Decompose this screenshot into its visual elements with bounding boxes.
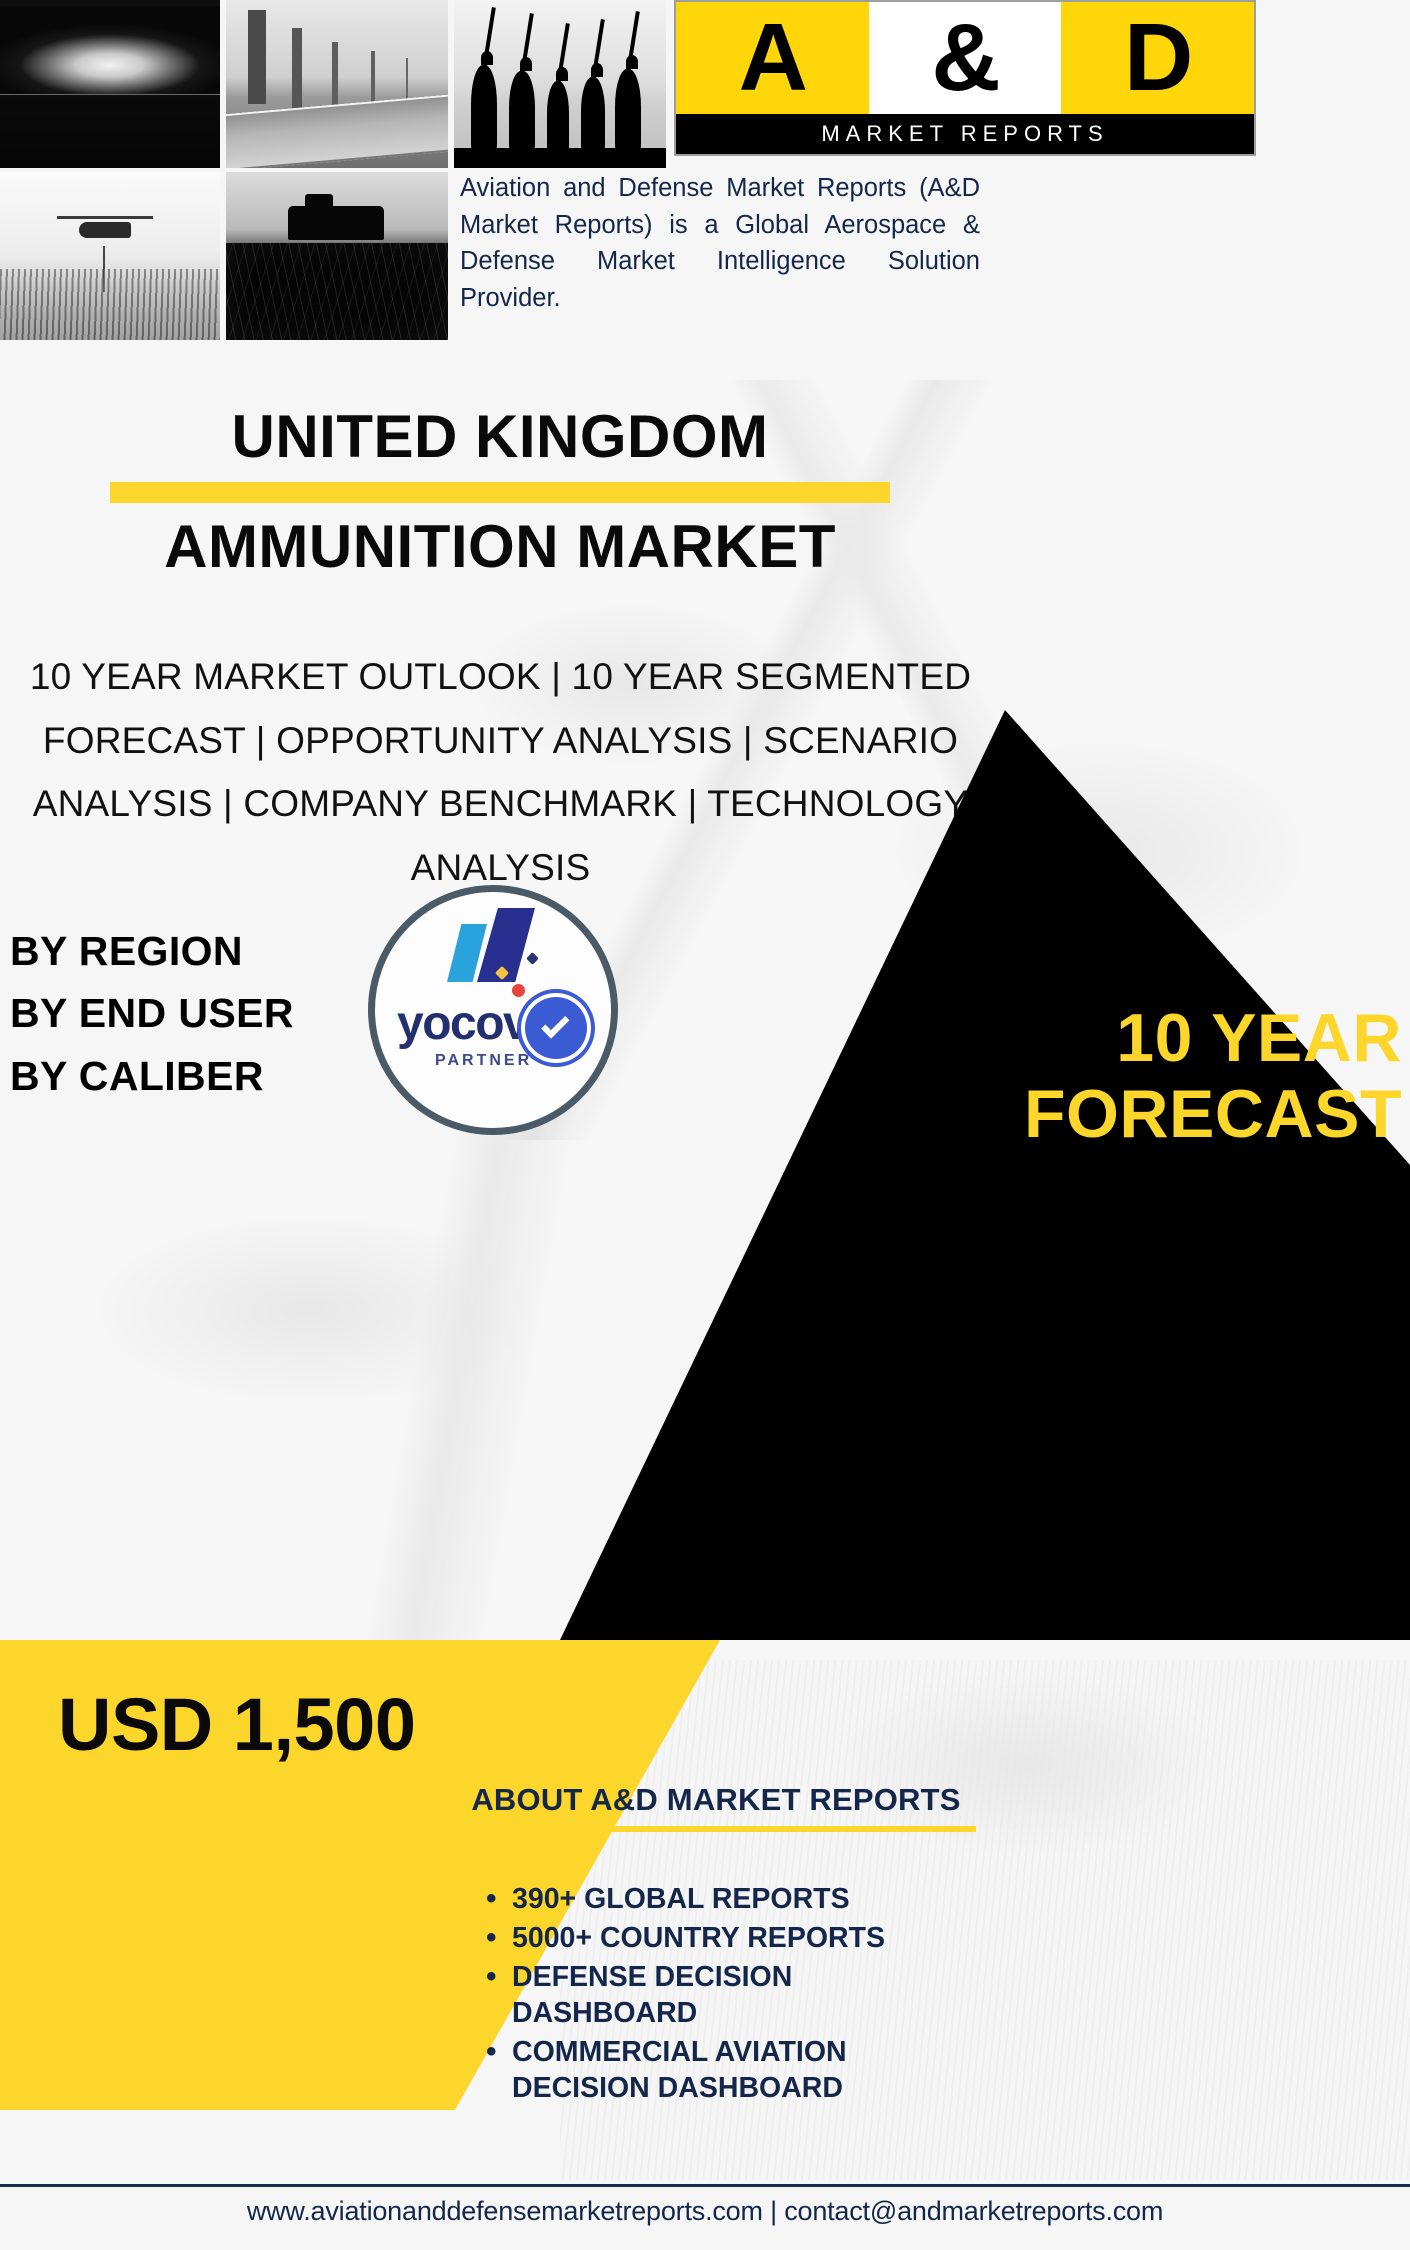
report-cover-poster: A & D MARKET REPORTS Aviation and Defens… [0, 0, 1410, 2250]
about-bullet-list: 390+ GLOBAL REPORTS 5000+ COUNTRY REPORT… [480, 1882, 950, 2109]
confetti-dot-red-icon [512, 984, 525, 997]
about-bullet-country-reports: 5000+ COUNTRY REPORTS [480, 1921, 950, 1957]
feature-list: 10 YEAR MARKET OUTLOOK | 10 YEAR SEGMENT… [18, 645, 983, 900]
ad-market-reports-logo: A & D MARKET REPORTS [676, 2, 1254, 154]
aircraft-carrier-photo [226, 0, 448, 168]
logo-letter-ampersand: & [931, 10, 998, 106]
about-bullet-global-reports: 390+ GLOBAL REPORTS [480, 1882, 950, 1918]
logo-tagline: MARKET REPORTS [821, 121, 1108, 147]
page-title-line2: AMMUNITION MARKET [0, 515, 1000, 579]
footer-contact: www.aviationanddefensemarketreports.com … [0, 2196, 1410, 2227]
soldiers-silhouette-photo [454, 0, 666, 168]
helicopter-photo [0, 172, 220, 340]
armored-vehicle-photo [226, 172, 448, 340]
price-value: USD 1,500 [58, 1682, 618, 1767]
logo-block-d: D [1061, 2, 1254, 114]
yocova-chevron-icon [447, 908, 539, 982]
about-heading: ABOUT A&D MARKET REPORTS [456, 1782, 976, 1818]
about-divider [460, 1826, 976, 1832]
page-title-line1: UNITED KINGDOM [0, 405, 1000, 469]
logo-letter-a: A [739, 10, 806, 106]
logo-block-a: A [676, 2, 869, 114]
forecast-badge-line1: 10 YEAR [872, 1000, 1402, 1076]
yocova-partner-badge: yocova PARTNER [368, 885, 618, 1135]
segmentation-item-end-user: BY END USER [10, 982, 430, 1044]
about-bullet-commercial-dashboard: COMMERCIAL AVIATION DECISION DASHBOARD [480, 2035, 950, 2107]
segmentation-list: BY REGION BY END USER BY CALIBER [10, 920, 430, 1107]
logo-block-ampersand: & [869, 2, 1062, 114]
logo-letter-d: D [1124, 10, 1191, 106]
fighter-jet-photo [0, 0, 220, 168]
forecast-badge-line2: FORECAST [872, 1076, 1402, 1152]
logo-tagline-bar: MARKET REPORTS [676, 114, 1254, 154]
title-divider [110, 482, 890, 503]
company-description: Aviation and Defense Market Reports (A&D… [460, 170, 980, 317]
footer-divider [0, 2184, 1410, 2187]
about-bullet-defense-dashboard: DEFENSE DECISION DASHBOARD [480, 1960, 950, 2032]
segmentation-item-caliber: BY CALIBER [10, 1045, 430, 1107]
forecast-badge: 10 YEAR FORECAST [872, 1000, 1402, 1152]
segmentation-item-region: BY REGION [10, 920, 430, 982]
verified-check-icon [525, 997, 587, 1059]
